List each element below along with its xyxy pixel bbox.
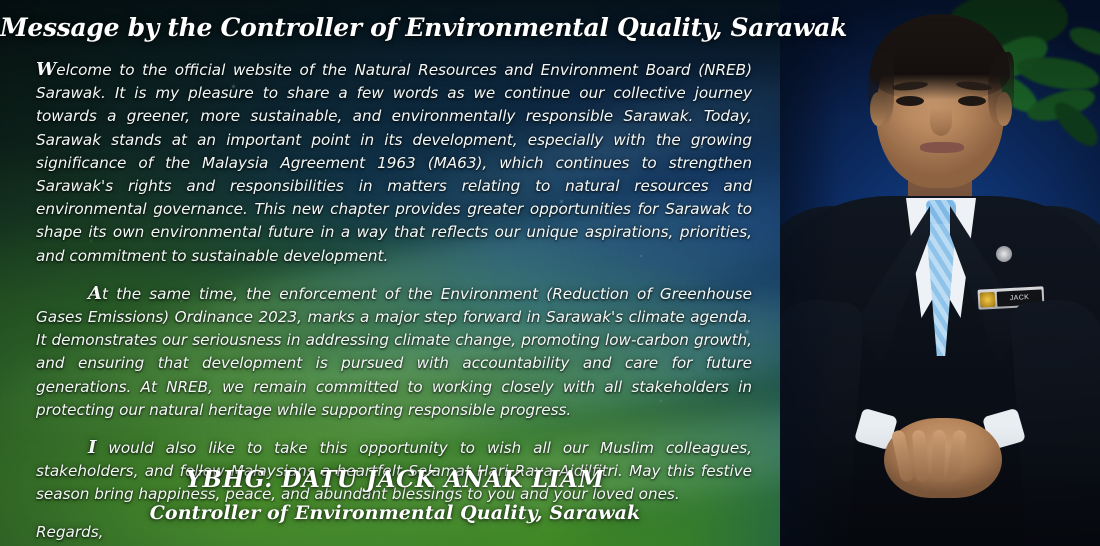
signatory-name: YBHG. DATU JACK ANAK LIAM: [0, 466, 790, 493]
person-finger: [931, 430, 946, 482]
person-eye-left: [896, 96, 924, 106]
controller-message-banner: JACK Message by the Controller of Enviro…: [0, 0, 1100, 546]
signature-block: YBHG. DATU JACK ANAK LIAM Controller of …: [0, 466, 790, 524]
page-title: Message by the Controller of Environment…: [0, 13, 790, 42]
badge-name-text: JACK: [1010, 294, 1030, 302]
person-hair-side-left: [868, 52, 894, 126]
paragraph-1-text: elcome to the official website of the Na…: [36, 61, 752, 265]
paragraph-1-dropcap: W: [36, 59, 56, 80]
paragraph-1: Welcome to the official website of the N…: [36, 58, 752, 268]
message-content: Message by the Controller of Environment…: [0, 0, 790, 546]
person-sleeve-right: [1009, 297, 1100, 546]
signatory-role: Controller of Environmental Quality, Sar…: [0, 502, 790, 524]
person-eye-right: [958, 96, 986, 106]
paragraph-2-text: t the same time, the enforcement of the …: [36, 285, 752, 419]
person-nose: [930, 108, 952, 136]
controller-portrait: JACK: [780, 0, 1100, 546]
closing-text: Regards,: [36, 521, 752, 544]
person-hair-side-right: [988, 52, 1014, 126]
lapel-pin-icon: [996, 246, 1012, 262]
person-figure: JACK: [780, 0, 1100, 546]
paragraph-2-dropcap: A: [88, 283, 102, 304]
paragraph-2: At the same time, the enforcement of the…: [36, 282, 752, 422]
badge-emblem-icon: [980, 291, 996, 307]
person-mouth: [920, 142, 964, 153]
